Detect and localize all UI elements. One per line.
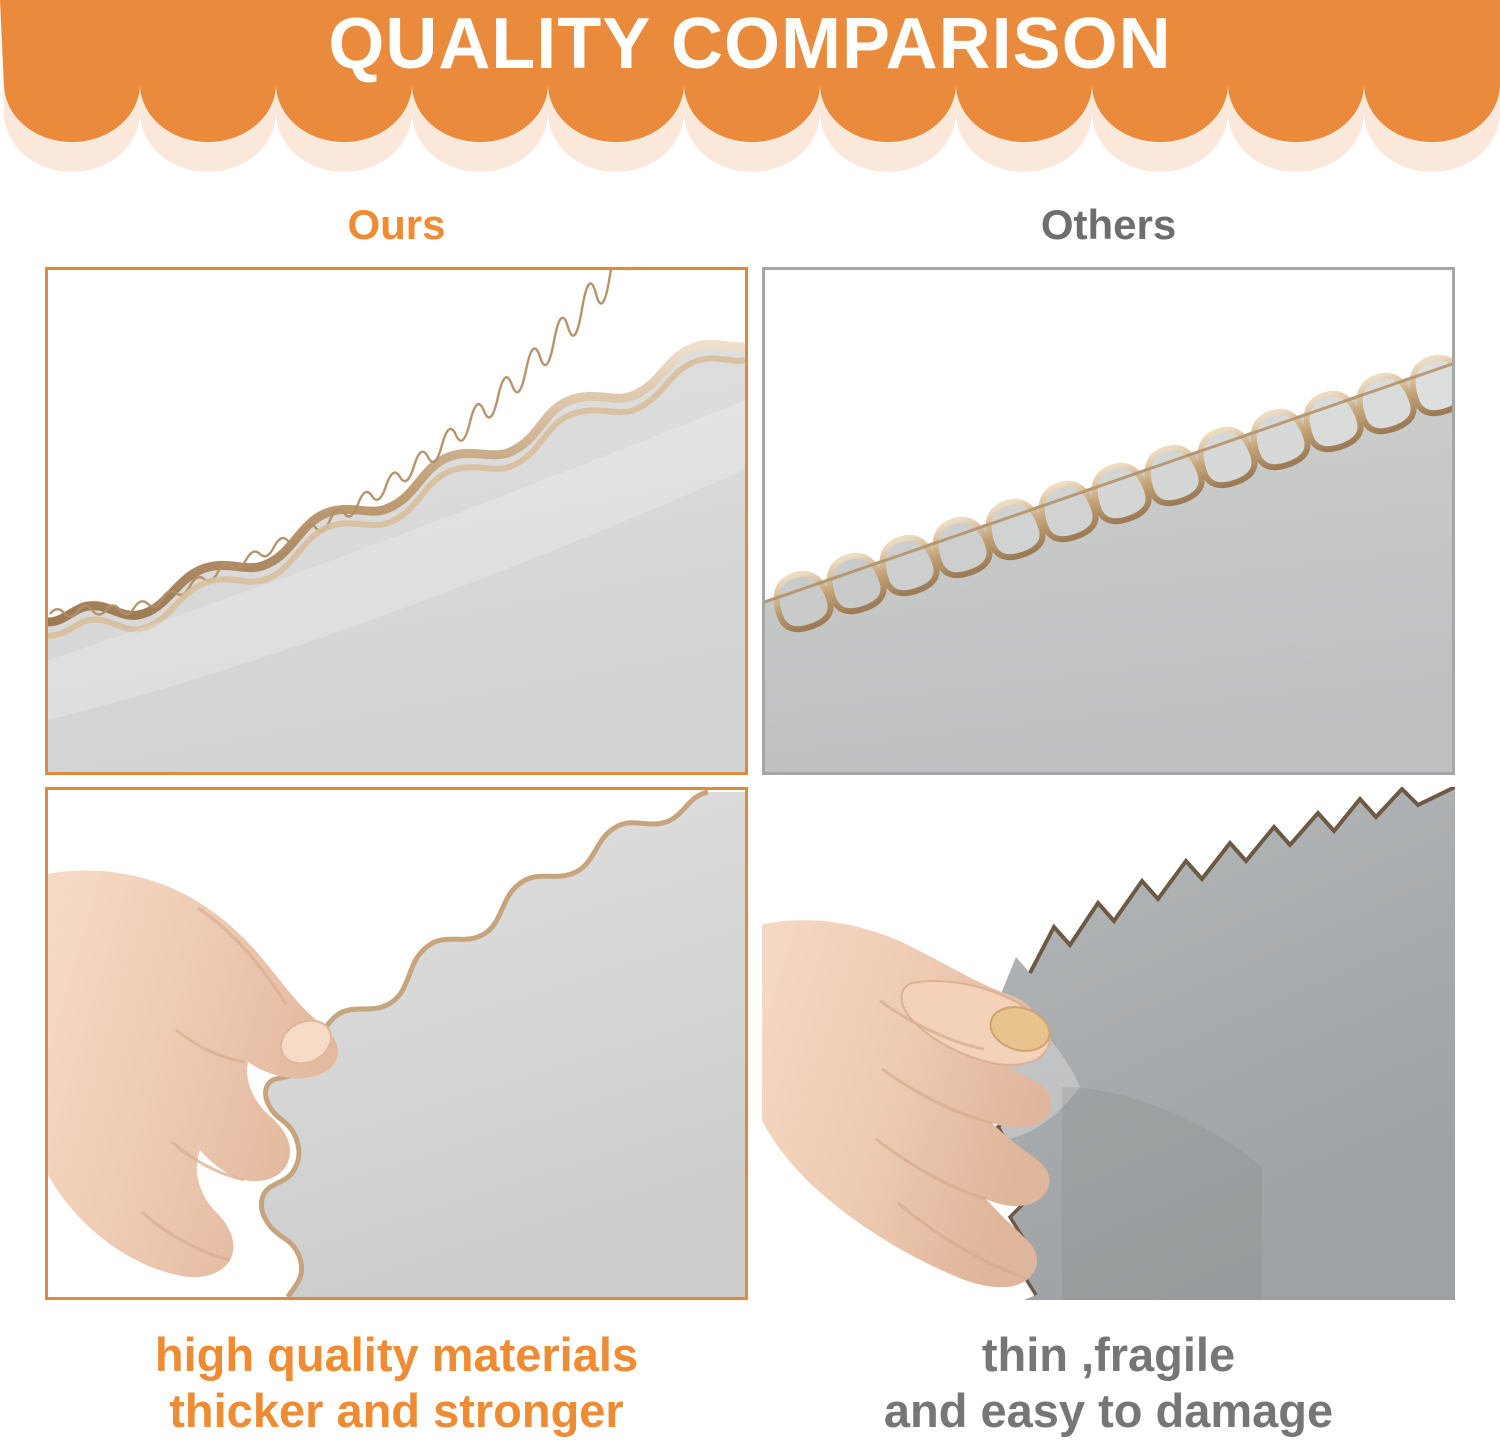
photo-panel-others-hand [762, 787, 1455, 1300]
photo-panel-ours-edge [45, 267, 748, 775]
photo-panel-ours-hand [45, 787, 748, 1300]
column-heading-ours: Ours [45, 200, 748, 250]
others-hand-bending-image [762, 787, 1455, 1300]
column-heading-others: Others [762, 200, 1455, 250]
others-edge-closeup-image [765, 270, 1452, 772]
page-title: QUALITY COMPARISON [0, 2, 1500, 86]
header-banner: QUALITY COMPARISON [0, 0, 1500, 172]
ours-hand-rigid-image [48, 790, 745, 1297]
ours-edge-closeup-image [48, 270, 745, 772]
caption-ours: high quality materials thicker and stron… [45, 1327, 748, 1439]
caption-others: thin ,fragile and easy to damage [762, 1327, 1455, 1439]
photo-panel-others-edge [762, 267, 1455, 775]
